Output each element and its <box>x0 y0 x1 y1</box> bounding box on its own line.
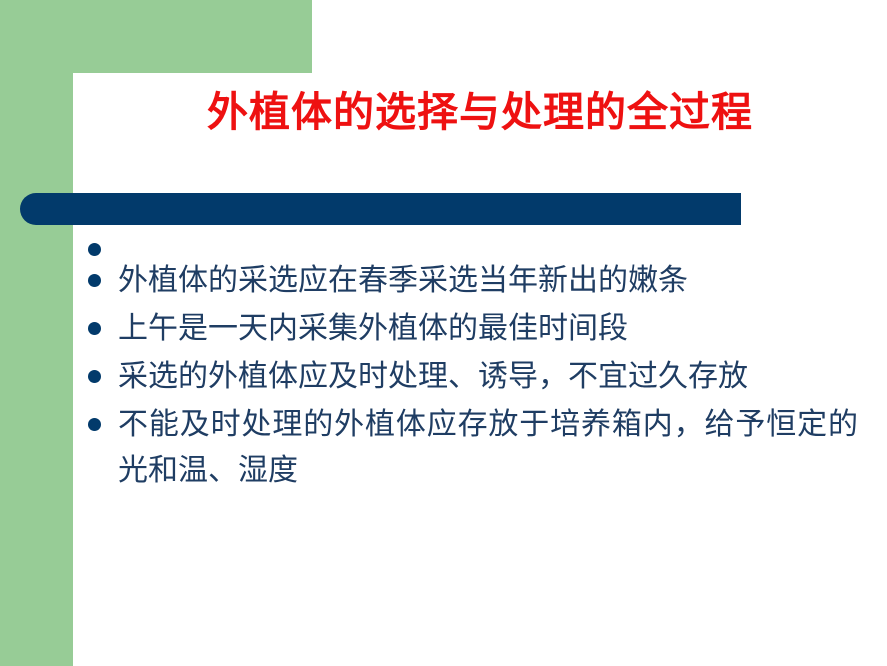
bullet-text: 外植体的采选应在春季采选当年新出的嫩条 <box>118 258 858 304</box>
bullet-text <box>118 240 858 254</box>
list-item: 上午是一天内采集外植体的最佳时间段 <box>88 306 858 352</box>
bullet-text: 不能及时处理的外植体应存放于培养箱内，给予恒定的光和温、湿度 <box>118 402 858 494</box>
bullet-list: 外植体的采选应在春季采选当年新出的嫩条 上午是一天内采集外植体的最佳时间段 采选… <box>88 240 858 496</box>
bullet-dot-icon <box>88 322 101 335</box>
navy-divider-bar <box>20 193 741 225</box>
bullet-dot-icon <box>88 243 101 256</box>
bullet-dot-icon <box>88 418 101 431</box>
green-side-strip-decoration <box>0 0 73 666</box>
bullet-dot-icon <box>88 370 101 383</box>
list-item: 不能及时处理的外植体应存放于培养箱内，给予恒定的光和温、湿度 <box>88 402 858 494</box>
bullet-text: 上午是一天内采集外植体的最佳时间段 <box>118 306 858 352</box>
slide-title: 外植体的选择与处理的全过程 <box>73 86 887 138</box>
list-item: 外植体的采选应在春季采选当年新出的嫩条 <box>88 258 858 304</box>
bullet-dot-icon <box>88 274 101 287</box>
presentation-slide: 外植体的选择与处理的全过程 外植体的采选应在春季采选当年新出的嫩条 上午是一天内… <box>0 0 887 666</box>
green-corner-block-decoration <box>0 0 312 73</box>
list-item: 采选的外植体应及时处理、诱导，不宜过久存放 <box>88 354 858 400</box>
list-item <box>88 240 858 256</box>
bullet-text: 采选的外植体应及时处理、诱导，不宜过久存放 <box>118 354 858 400</box>
